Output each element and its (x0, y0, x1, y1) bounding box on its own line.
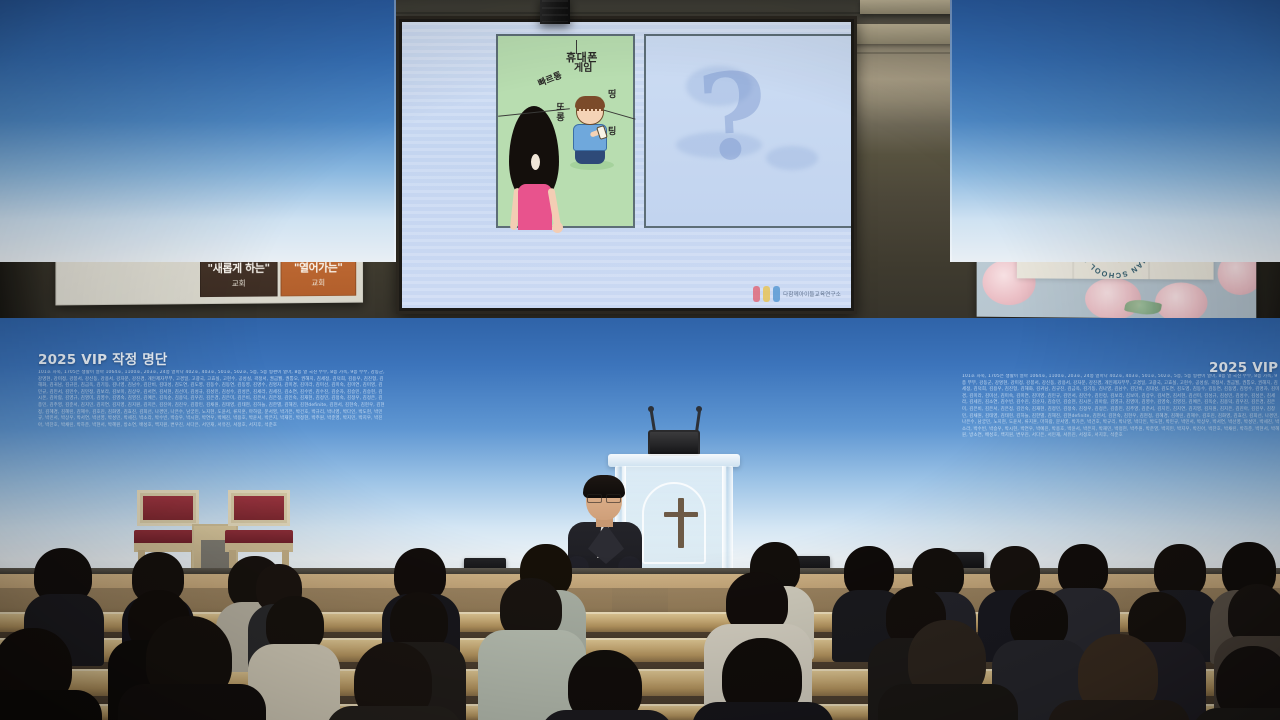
comic-label-ding: 띵 (608, 91, 616, 100)
glasses-icon (587, 494, 621, 501)
comic-label-ting: 팅 (608, 128, 616, 137)
backdrop-panel-right (950, 0, 1280, 262)
cross-icon (678, 498, 684, 548)
line-array-speaker-center (540, 0, 570, 24)
projection-screen: 휴대폰 게임 빠르통 띵 또롱 팅 ? 다함께아이들교육연구소 (402, 22, 851, 308)
vision-card-tail: 교회 (232, 278, 246, 289)
cross-icon-bar (664, 512, 698, 517)
mic-capsule-left (648, 406, 654, 412)
vip-name-list-right: 101호 자욱, 1705은 생활이 열마 1064호, 1100호, 203호… (962, 374, 1280, 498)
slide-footer-logo-text: 다함께아이들교육연구소 (783, 290, 841, 298)
vision-card-tail: 교회 (311, 277, 325, 288)
stage-chair-left (137, 490, 199, 562)
comic-label-phone: 휴대폰 (566, 52, 598, 63)
question-mark-watermark: ? (695, 56, 770, 177)
comic-label-fast: 빠르통 (537, 72, 563, 90)
comic-label-ttorong: 또롱 (554, 102, 563, 122)
backdrop-panel-left (0, 0, 396, 262)
pulpit-monitor (648, 430, 700, 456)
mic-capsule-right (696, 406, 702, 412)
comic-panel-right: ? (644, 34, 851, 228)
stage-chair-right (228, 490, 290, 562)
projection-screen-frame: 휴대폰 게임 빠르통 띵 또롱 팅 ? 다함께아이들교육연구소 (396, 16, 857, 314)
comic-panel-left: 휴대폰 게임 빠르통 띵 또롱 팅 (496, 34, 635, 228)
vip-name-list-left: 101호 자욱, 1705은 생활이 열마 1064호, 1100호, 203호… (38, 370, 386, 502)
slide-footer-logo: 다함께아이들교육연구소 (753, 286, 841, 302)
auditorium-photo: 은혜의동산교회 4대 VISION 은혜의동산 교회 1 하나님을 "경험하는"… (0, 0, 1280, 720)
vip-list-title-right: 2025 VIP 작정 (1209, 356, 1280, 376)
comic-label-game: 게임 (574, 64, 592, 74)
vip-list-title-left: 2025 VIP 작정 명단 (38, 348, 168, 368)
vision-card-main: "새롭게 하는" (207, 260, 269, 276)
